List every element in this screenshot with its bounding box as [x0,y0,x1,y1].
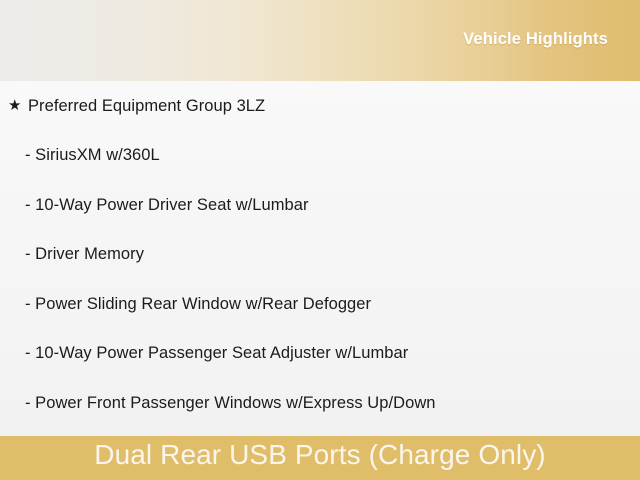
header-bar: Vehicle Highlights [0,0,640,81]
feature-label: - Power Front Passenger Windows w/Expres… [25,394,436,412]
footer-banner: Dual Rear USB Ports (Charge Only) [0,436,640,480]
feature-label: Preferred Equipment Group 3LZ [28,97,265,115]
page-title: Vehicle Highlights [463,30,608,49]
footer-headline: Dual Rear USB Ports (Charge Only) [0,437,640,472]
list-item: ★ Preferred Equipment Group 3LZ [0,81,640,131]
list-item: - 10-Way Power Passenger Seat Adjuster w… [0,329,640,379]
list-item: - Power Sliding Rear Window w/Rear Defog… [0,279,640,329]
vehicle-highlights-card: Vehicle Highlights ★ Preferred Equipment… [0,0,640,480]
feature-label: - SiriusXM w/360L [25,146,160,164]
list-item: - Driver Memory [0,230,640,280]
feature-label: - 10-Way Power Passenger Seat Adjuster w… [25,344,408,362]
list-item: - 10-Way Power Driver Seat w/Lumbar [0,180,640,230]
star-bullet-icon: ★ [8,98,28,113]
feature-label: - 10-Way Power Driver Seat w/Lumbar [25,196,309,214]
list-item: - SiriusXM w/360L [0,131,640,181]
feature-label: - Power Sliding Rear Window w/Rear Defog… [25,295,371,313]
vehicle-features-list: ★ Preferred Equipment Group 3LZ - Sirius… [0,81,640,436]
list-item: - Power Front Passenger Windows w/Expres… [0,378,640,428]
feature-label: - Driver Memory [25,245,144,263]
